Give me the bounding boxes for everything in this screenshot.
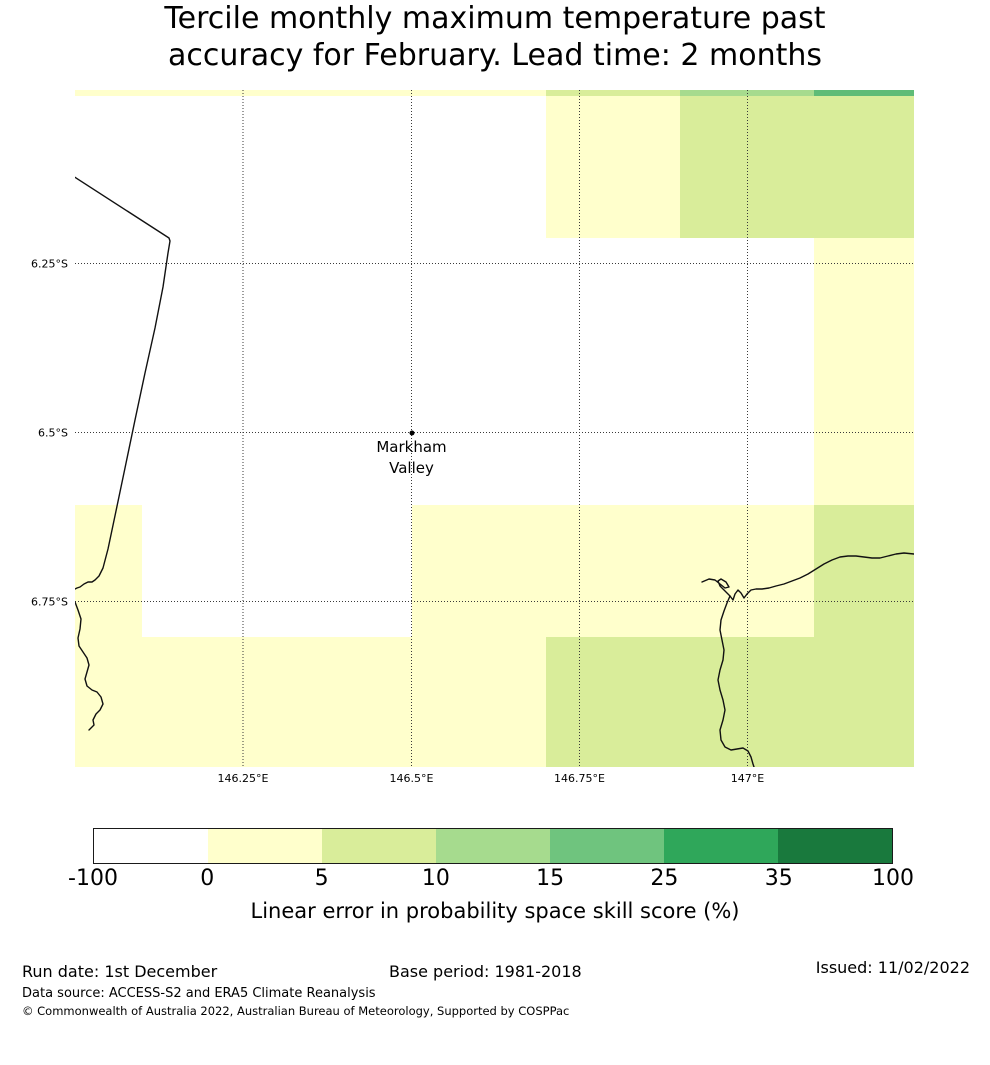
colorbar-tick: 10 bbox=[422, 866, 450, 891]
latitude-axis: 6.25°S 6.5°S 6.75°S bbox=[0, 90, 68, 767]
copyright-text: © Commonwealth of Australia 2022, Austra… bbox=[22, 1004, 569, 1018]
map-panel[interactable]: Markham Valley bbox=[75, 90, 914, 767]
colorbar-tick: 0 bbox=[200, 866, 214, 891]
issued-date-text: Issued: 11/02/2022 bbox=[816, 958, 970, 977]
lat-tick-label: 6.5°S bbox=[38, 426, 68, 439]
colorbar-tick: 5 bbox=[315, 866, 329, 891]
colorbar-tick: 15 bbox=[536, 866, 564, 891]
data-source-text: Data source: ACCESS-S2 and ERA5 Climate … bbox=[22, 986, 376, 1001]
longitude-axis: 146.25°E 146.5°E 146.75°E 147°E bbox=[75, 772, 914, 792]
colorbar-segment bbox=[436, 829, 550, 863]
lat-tick-label: 6.25°S bbox=[31, 257, 68, 270]
lon-tick-label: 147°E bbox=[731, 772, 764, 785]
colorbar-segment bbox=[322, 829, 436, 863]
colorbar bbox=[93, 828, 893, 864]
colorbar-gradient bbox=[93, 828, 893, 864]
colorbar-tick: -100 bbox=[68, 866, 118, 891]
lat-tick-label: 6.75°S bbox=[31, 595, 68, 608]
base-period-text: Base period: 1981-2018 bbox=[389, 962, 582, 981]
lon-tick-label: 146.5°E bbox=[390, 772, 434, 785]
colorbar-segment bbox=[208, 829, 322, 863]
colorbar-segment bbox=[664, 829, 778, 863]
colorbar-tick: 35 bbox=[765, 866, 793, 891]
city-marker-layer: Markham Valley bbox=[75, 90, 914, 767]
lon-tick-label: 146.25°E bbox=[218, 772, 269, 785]
lon-tick-label: 146.75°E bbox=[554, 772, 605, 785]
city-label: Markham Valley bbox=[376, 437, 446, 479]
colorbar-tick: 25 bbox=[650, 866, 678, 891]
city-marker-dot bbox=[409, 430, 414, 435]
colorbar-axis-label: Linear error in probability space skill … bbox=[0, 899, 990, 923]
colorbar-segment bbox=[550, 829, 664, 863]
colorbar-segment bbox=[778, 829, 892, 863]
page-title: Tercile monthly maximum temperature past… bbox=[0, 0, 990, 74]
colorbar-tick-labels: -1000510152535100 bbox=[93, 866, 893, 894]
run-date-text: Run date: 1st December bbox=[22, 962, 217, 981]
colorbar-tick: 100 bbox=[872, 866, 914, 891]
colorbar-segment bbox=[94, 829, 208, 863]
